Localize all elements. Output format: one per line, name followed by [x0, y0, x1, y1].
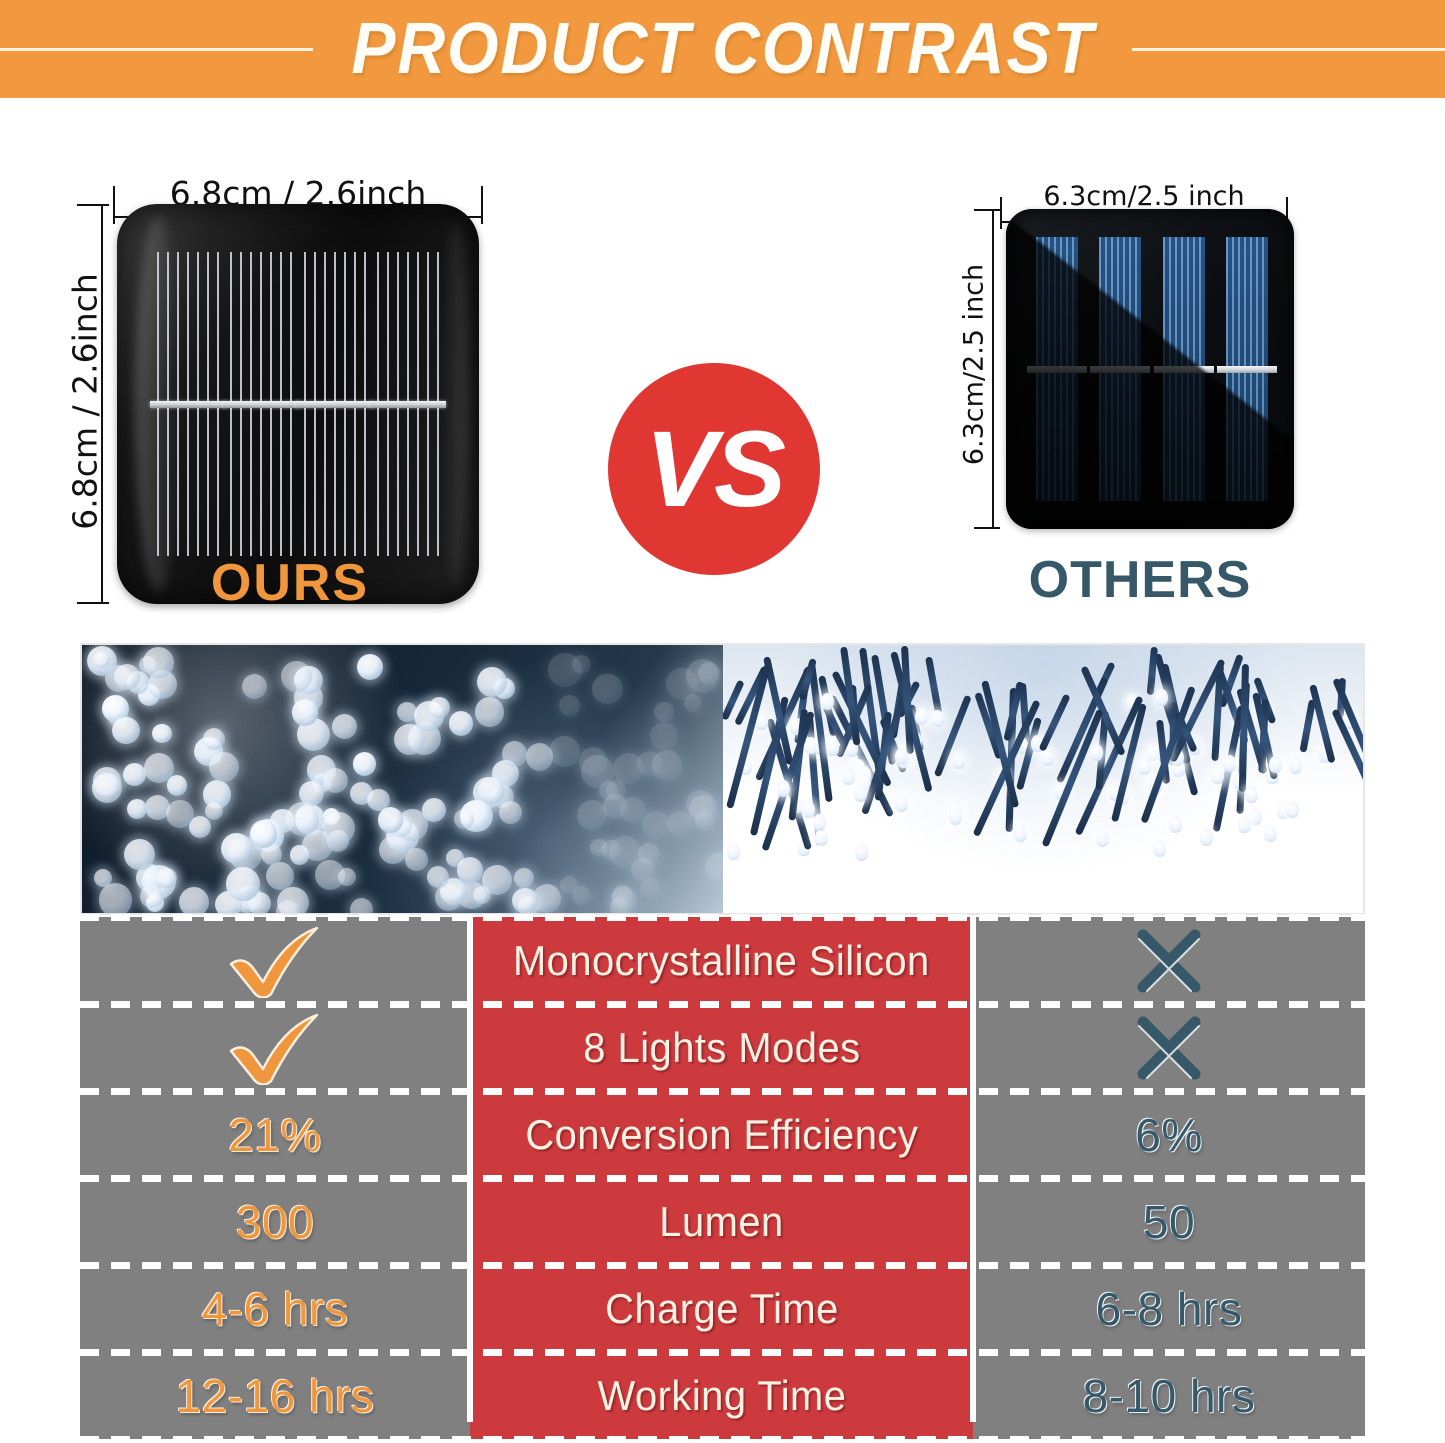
led-bulb — [353, 752, 376, 775]
others-value-text: 6-8 hrs — [1096, 1282, 1243, 1336]
led-wire — [925, 656, 942, 714]
led-bulb — [1041, 749, 1054, 766]
check-icon — [221, 924, 329, 998]
ours-led-cluster — [82, 645, 723, 913]
others-height-label: 6.3cm/2.5 inch — [959, 205, 990, 525]
led-bulb — [92, 773, 123, 804]
led-wire — [1299, 699, 1316, 753]
ours-value-cell: 21% — [80, 1091, 470, 1178]
led-bulb — [777, 780, 790, 797]
table-row: 4-6 hrsCharge Time6-8 hrs — [80, 1265, 1365, 1352]
led-bulb — [1014, 825, 1027, 842]
check-icon — [221, 1011, 329, 1085]
led-bulb — [667, 811, 692, 836]
led-bulb — [895, 795, 908, 812]
led-photo-strip — [80, 643, 1365, 915]
led-bulb — [454, 809, 474, 829]
ours-value-cell: 4-6 hrs — [80, 1265, 470, 1352]
feature-label: Monocrystalline Silicon — [513, 937, 930, 985]
led-bulb — [949, 808, 962, 825]
led-bulb — [502, 741, 527, 766]
feature-name-cell: Conversion Efficiency — [470, 1091, 973, 1178]
others-value-text: 6% — [1135, 1108, 1202, 1162]
led-bulb — [689, 795, 718, 824]
led-bulb — [1223, 755, 1236, 772]
led-bulb — [1264, 825, 1277, 842]
led-bulb — [205, 802, 223, 820]
led-bulb — [1238, 816, 1251, 833]
led-bulb — [156, 868, 176, 888]
feature-name-cell: Charge Time — [470, 1265, 973, 1352]
ours-value-text: 300 — [236, 1195, 314, 1249]
mono-cell — [157, 252, 219, 556]
poly-cell — [1226, 237, 1268, 501]
led-bulb — [931, 710, 944, 727]
led-bulb — [152, 724, 171, 743]
led-bulb — [727, 843, 740, 860]
busbar — [1090, 366, 1150, 373]
led-bulb — [123, 763, 146, 786]
led-bulb — [124, 839, 155, 870]
feature-name-cell: Monocrystalline Silicon — [470, 917, 973, 1004]
led-bulb — [1138, 758, 1151, 775]
busbar — [150, 401, 227, 408]
led-bulb — [1090, 744, 1103, 761]
feature-name-cell: Lumen — [470, 1178, 973, 1265]
close-icon — [1132, 924, 1206, 998]
led-bulb — [93, 651, 110, 668]
led-bulb — [1211, 767, 1224, 784]
led-bulb — [952, 752, 965, 769]
others-height-tick-bottom — [974, 527, 1000, 529]
led-bulb — [242, 674, 267, 699]
led-bulb — [357, 654, 384, 681]
led-bulb — [915, 708, 928, 725]
page-header-banner: PRODUCT CONTRAST — [0, 0, 1445, 98]
table-row: Monocrystalline Silicon — [80, 917, 1365, 1004]
led-bulb — [895, 748, 908, 765]
mono-cell-group — [157, 252, 439, 556]
led-bulb — [475, 697, 505, 727]
feature-label: 8 Lights Modes — [583, 1024, 860, 1072]
poly-cell-group — [1036, 237, 1268, 501]
led-bulb — [1249, 808, 1262, 825]
banner-rule-right — [1132, 48, 1445, 51]
busbar — [296, 401, 373, 408]
led-bulb — [99, 883, 133, 913]
led-bulb — [473, 886, 491, 904]
led-bulb — [592, 674, 623, 705]
others-value-text: 50 — [1143, 1195, 1195, 1249]
others-solar-panel-image — [1006, 209, 1294, 529]
led-bulb — [560, 876, 578, 894]
led-bulb — [854, 785, 867, 802]
table-row: 21%Conversion Efficiency6% — [80, 1091, 1365, 1178]
led-bulb — [1286, 801, 1299, 818]
ours-height-label: 6.8cm / 2.6inch — [66, 202, 105, 602]
led-bulb — [652, 750, 683, 781]
feature-label: Lumen — [659, 1198, 783, 1246]
led-bulb — [477, 667, 507, 697]
others-value-cell: 8-10 hrs — [973, 1352, 1365, 1439]
led-bulb — [581, 755, 614, 788]
led-bulb — [209, 752, 239, 782]
busbar — [1027, 366, 1087, 373]
led-bulb — [1153, 840, 1166, 857]
ours-value-cell — [80, 917, 470, 1004]
led-bulb — [140, 885, 162, 907]
led-bulb — [548, 653, 582, 687]
poly-cell — [1036, 237, 1078, 501]
mono-cell — [377, 252, 439, 556]
ours-solar-panel-image — [117, 204, 479, 604]
others-value-cell — [973, 1004, 1365, 1091]
led-bulb — [144, 753, 174, 783]
led-bulb — [114, 664, 140, 690]
led-bulb — [378, 807, 403, 832]
led-bulb — [601, 840, 620, 859]
close-icon — [1132, 1011, 1206, 1085]
others-value-cell: 6% — [973, 1091, 1365, 1178]
led-bulb — [332, 714, 357, 739]
led-bulb — [281, 661, 312, 692]
led-bulb — [1169, 816, 1182, 833]
led-bulb — [226, 867, 259, 900]
others-led-cluster — [723, 645, 1364, 913]
led-bulb — [286, 802, 319, 835]
feature-label: Charge Time — [605, 1285, 839, 1333]
led-bulb — [266, 862, 294, 890]
busbar — [1217, 366, 1277, 373]
led-bulb — [127, 799, 147, 819]
led-bulb — [813, 814, 826, 831]
led-bulb — [1245, 786, 1258, 803]
ours-value-cell — [80, 1004, 470, 1091]
others-width-label: 6.3cm/2.5 inch — [980, 181, 1308, 212]
ours-value-cell: 12-16 hrs — [80, 1352, 470, 1439]
others-led-photo — [723, 645, 1364, 913]
poly-cell — [1163, 237, 1205, 501]
led-bulb — [821, 693, 834, 710]
others-value-text: 8-10 hrs — [1083, 1369, 1256, 1423]
ours-width-tick-left — [113, 186, 115, 224]
others-value-cell: 50 — [973, 1178, 1365, 1265]
spec-comparison-table: Monocrystalline Silicon8 Lights Modes21%… — [80, 917, 1365, 1422]
led-bulb — [449, 711, 474, 736]
led-bulb — [642, 811, 669, 838]
led-bulb — [1289, 757, 1302, 774]
led-bulb — [1200, 829, 1213, 846]
led-bulb — [143, 647, 174, 678]
led-bulb — [179, 887, 209, 913]
ours-value-text: 21% — [228, 1108, 322, 1162]
busbar — [1154, 366, 1214, 373]
led-bulb — [650, 722, 678, 750]
feature-name-cell: Working Time — [470, 1352, 973, 1439]
led-bulb — [478, 777, 505, 804]
feature-name-cell: 8 Lights Modes — [470, 1004, 973, 1091]
led-bulb — [203, 728, 225, 750]
led-bulb — [512, 888, 537, 913]
led-wire — [1038, 693, 1070, 752]
led-bulb — [457, 857, 484, 884]
ours-width-tick-right — [481, 186, 483, 224]
feature-label: Working Time — [597, 1372, 846, 1420]
ours-value-text: 4-6 hrs — [202, 1282, 349, 1336]
table-row: 8 Lights Modes — [80, 1004, 1365, 1091]
led-bulb — [815, 829, 828, 846]
feature-label: Conversion Efficiency — [525, 1111, 918, 1159]
busbar — [370, 401, 447, 408]
led-bulb — [640, 878, 661, 899]
product-comparison-section: 6.8cm / 2.6inch 6.8cm / 2.6inch VS 6.3cm… — [0, 98, 1445, 643]
led-bulb — [1096, 830, 1109, 847]
ours-led-photo — [82, 645, 723, 913]
led-bulb — [323, 768, 348, 793]
busbar — [223, 401, 300, 408]
led-bulb — [499, 801, 522, 824]
led-bulb — [250, 820, 277, 847]
vs-badge: VS — [608, 363, 820, 575]
led-wire — [1238, 664, 1248, 792]
others-value-cell: 6-8 hrs — [973, 1265, 1365, 1352]
led-bulb — [603, 794, 627, 818]
led-bulb — [842, 768, 855, 785]
led-bulb — [292, 699, 319, 726]
others-height-dimension: 6.3cm/2.5 inch — [948, 209, 1000, 529]
ours-brand-label: OURS — [55, 553, 525, 613]
led-bulb — [610, 897, 631, 913]
led-bulb — [112, 717, 139, 744]
led-wire — [1146, 646, 1157, 695]
led-bulb — [855, 844, 868, 861]
led-bulb — [166, 800, 193, 827]
led-bulb — [514, 868, 534, 888]
led-bulb — [427, 866, 449, 888]
others-height-line — [992, 209, 994, 529]
table-row: 12-16 hrsWorking Time8-10 hrs — [80, 1352, 1365, 1439]
led-bulb — [405, 848, 428, 871]
vs-label: VS — [645, 415, 783, 523]
led-bulb — [1269, 756, 1282, 773]
ours-height-dimension: 6.8cm / 2.6inch — [55, 204, 111, 604]
mono-cell — [304, 252, 366, 556]
banner-rule-left — [0, 48, 313, 51]
led-bulb — [826, 739, 839, 756]
others-value-cell — [973, 917, 1365, 1004]
table-row: 300Lumen50 — [80, 1178, 1365, 1265]
poly-cell — [1099, 237, 1141, 501]
mono-cell — [230, 252, 292, 556]
led-bulb — [549, 736, 580, 767]
led-bulb — [1155, 689, 1168, 706]
led-bulb — [350, 898, 373, 913]
led-bulb — [559, 695, 580, 716]
led-bulb — [338, 868, 356, 886]
ours-value-cell: 300 — [80, 1178, 470, 1265]
led-bulb — [221, 833, 252, 864]
led-bulb — [802, 801, 815, 818]
others-brand-label: OTHERS — [905, 550, 1375, 610]
led-bulb — [429, 697, 450, 718]
led-bulb — [654, 702, 675, 723]
others-width-tick-left — [1000, 197, 1002, 229]
page-title: PRODUCT CONTRAST — [345, 13, 1099, 85]
led-bulb — [705, 852, 723, 883]
ours-value-text: 12-16 hrs — [176, 1369, 375, 1423]
